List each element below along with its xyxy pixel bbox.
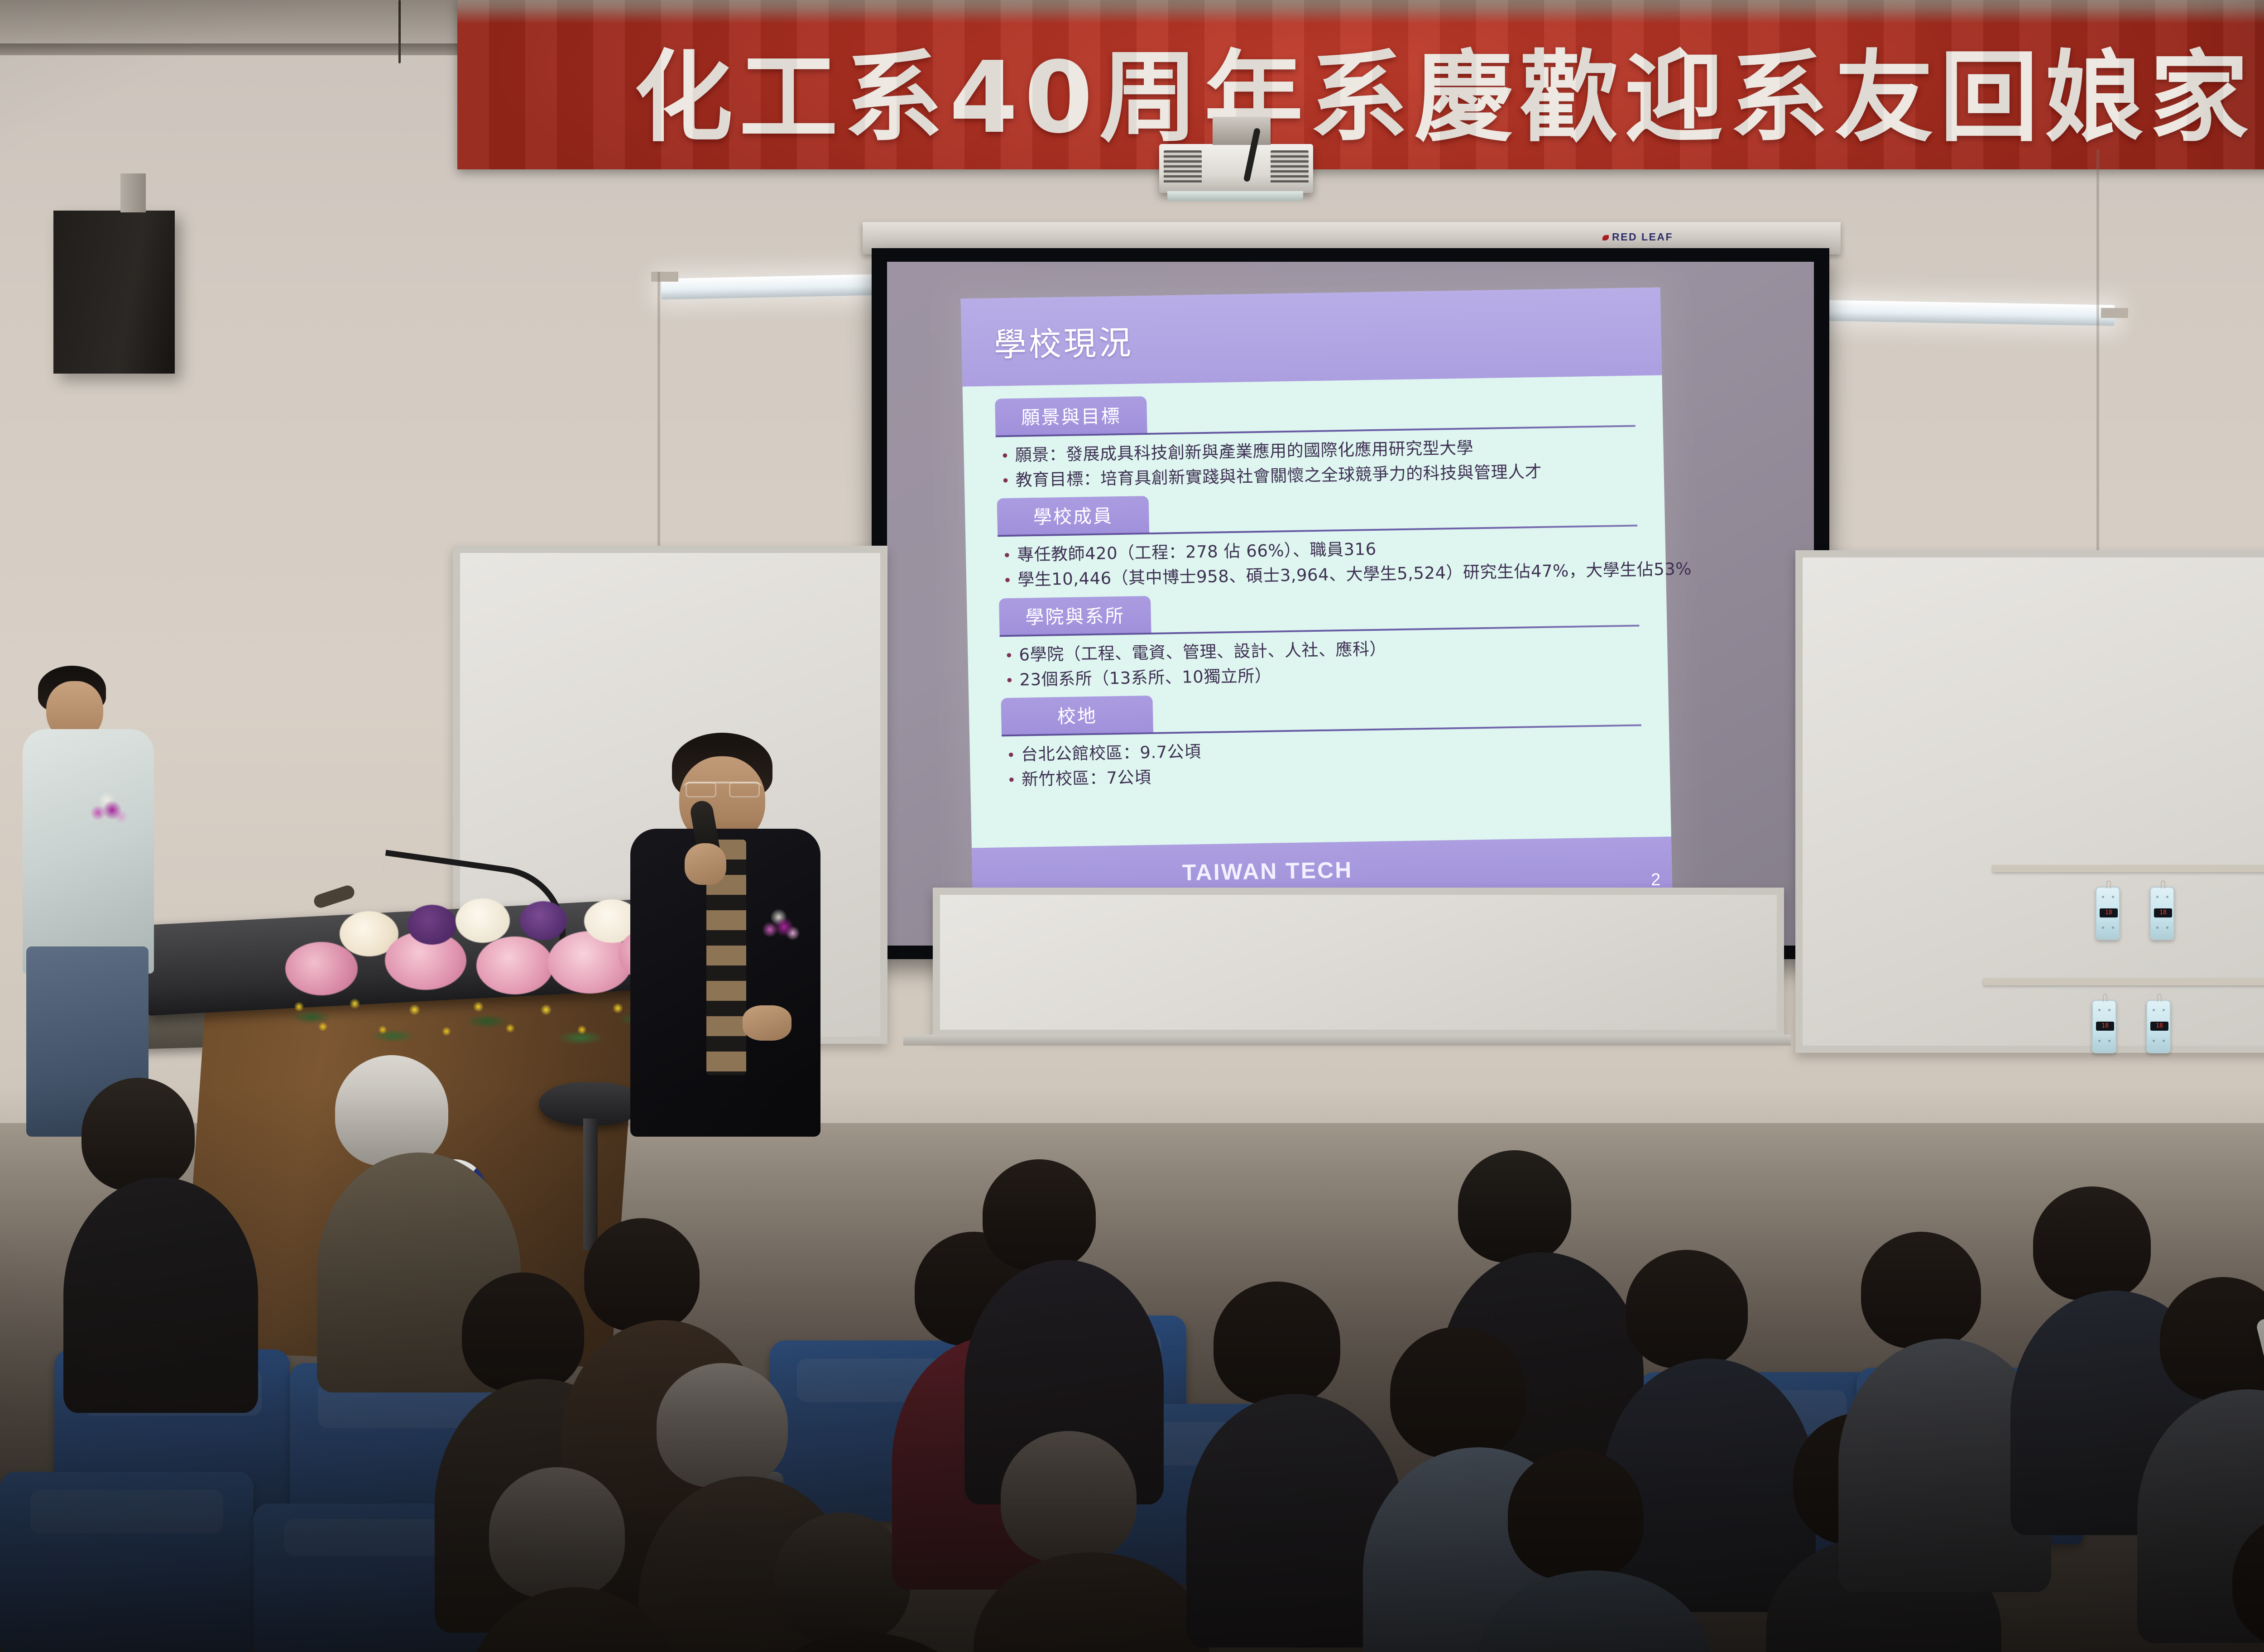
ac-remote-2[interactable]: 18 (2150, 887, 2174, 940)
projection-screen: 學校現況 願景與目標 願景：發展成具科技創新與產業應用的國際化應用研究型大學 教… (872, 248, 1829, 959)
projector (1159, 144, 1313, 193)
slide-section-vision: 願景與目標 願景：發展成具科技創新與產業應用的國際化應用研究型大學 教育目標：培… (995, 389, 1636, 496)
red-leaf-icon (1602, 235, 1609, 240)
speaker-bracket (120, 173, 146, 212)
projector-vent-right (1271, 150, 1309, 184)
ceiling-cable (398, 0, 401, 63)
remote-display: 18 (2150, 1022, 2168, 1031)
fluorescent-light-right (1825, 300, 2115, 326)
whiteboard-right (1795, 550, 2264, 1053)
remote-rail-top (1992, 865, 2264, 872)
banner-shadow (2196, 0, 2264, 169)
remote-display: 18 (2100, 908, 2118, 917)
fluorescent-light-left (661, 274, 897, 300)
ac-remote-4[interactable]: 18 (2146, 1000, 2171, 1053)
presenter-person (630, 733, 825, 1303)
assistant-corsage (81, 787, 135, 831)
whiteboard-tray (903, 1035, 1791, 1046)
yellow-orchids (267, 976, 666, 1053)
taiwan-tech-logo: TAIWAN TECH (1182, 857, 1353, 886)
presenter-corsage (753, 904, 807, 948)
slide-section-colleges: 學院與系所 6學院（工程、電資、管理、設計、人社、應科） 23個系所（13系所、… (999, 588, 1640, 696)
screen-surface: 學校現況 願景與目標 願景：發展成具科技創新與產業應用的國際化應用研究型大學 教… (887, 262, 1814, 946)
slide-title: 學校現況 (993, 316, 1134, 366)
section-tag: 校地 (1001, 696, 1154, 735)
projector-vent-left (1164, 150, 1202, 184)
projector-mount (1213, 117, 1271, 145)
wall-seam-1 (657, 272, 660, 562)
stool-post (583, 1119, 598, 1250)
auditorium-seat[interactable] (0, 1472, 254, 1652)
slide-header: 學校現況 (961, 288, 1662, 387)
section-tag: 願景與目標 (995, 396, 1147, 436)
wall-column-edge (2096, 149, 2099, 593)
banner-text: 化工系40周年系慶歡迎系友回娘家 (457, 17, 2264, 160)
screen-brand-label: RED LEAF (1602, 231, 1673, 243)
remote-hook (2157, 994, 2162, 1002)
remote-display: 18 (2154, 908, 2172, 917)
remote-display: 18 (2096, 1022, 2114, 1031)
event-banner: 化工系40周年系慶歡迎系友回娘家 (457, 0, 2264, 169)
assistant-shirt (23, 729, 154, 974)
slide-body: 願景與目標 願景：發展成具科技創新與產業應用的國際化應用研究型大學 教育目標：培… (963, 375, 1672, 849)
presenter-hand-holding-mic (685, 843, 726, 885)
section-bullets: 6學院（工程、電資、管理、設計、人社、應科） 23個系所（13系所、10獨立所） (1000, 627, 1640, 696)
remote-hook (2103, 994, 2107, 1002)
projector-lens-housing (1167, 191, 1303, 201)
lecture-hall-photo: 化工系40周年系慶歡迎系友回娘家 RED LEAF 學校現況 (0, 0, 2264, 1652)
light-holder-right (2101, 308, 2128, 318)
wall-speaker (53, 211, 175, 374)
presentation-slide: 學校現況 願景與目標 願景：發展成具科技創新與產業應用的國際化應用研究型大學 教… (961, 288, 1673, 904)
section-bullets: 專任教師420（工程：278 佔 66%）、職員316 學生10,446（其中博… (998, 527, 1638, 595)
section-bullets: 台北公館校區：9.7公頃 新竹校區：7公頃 (1002, 726, 1642, 795)
slide-section-campus: 校地 台北公館校區：9.7公頃 新竹校區：7公頃 (1001, 688, 1643, 795)
remote-rail-bottom (1983, 978, 2264, 985)
eyeglasses-icon (683, 782, 763, 797)
section-tag: 學校成員 (997, 496, 1150, 536)
section-tag: 學院與系所 (999, 596, 1151, 635)
slide-section-members: 學校成員 專任教師420（工程：278 佔 66%）、職員316 學生10,44… (997, 488, 1639, 595)
remote-hook (2161, 880, 2165, 888)
light-holder-left (651, 272, 678, 282)
presenter-hand (743, 1005, 791, 1041)
remote-hook (2106, 880, 2111, 888)
ac-remote-3[interactable]: 18 (2092, 1000, 2116, 1053)
whiteboard-center-lower (933, 888, 1784, 1037)
ac-remote-1[interactable]: 18 (2096, 887, 2120, 940)
section-bullets: 願景：發展成具科技創新與產業應用的國際化應用研究型大學 教育目標：培育具創新實踐… (996, 427, 1636, 496)
podium-flower-arrangement (272, 888, 661, 1078)
